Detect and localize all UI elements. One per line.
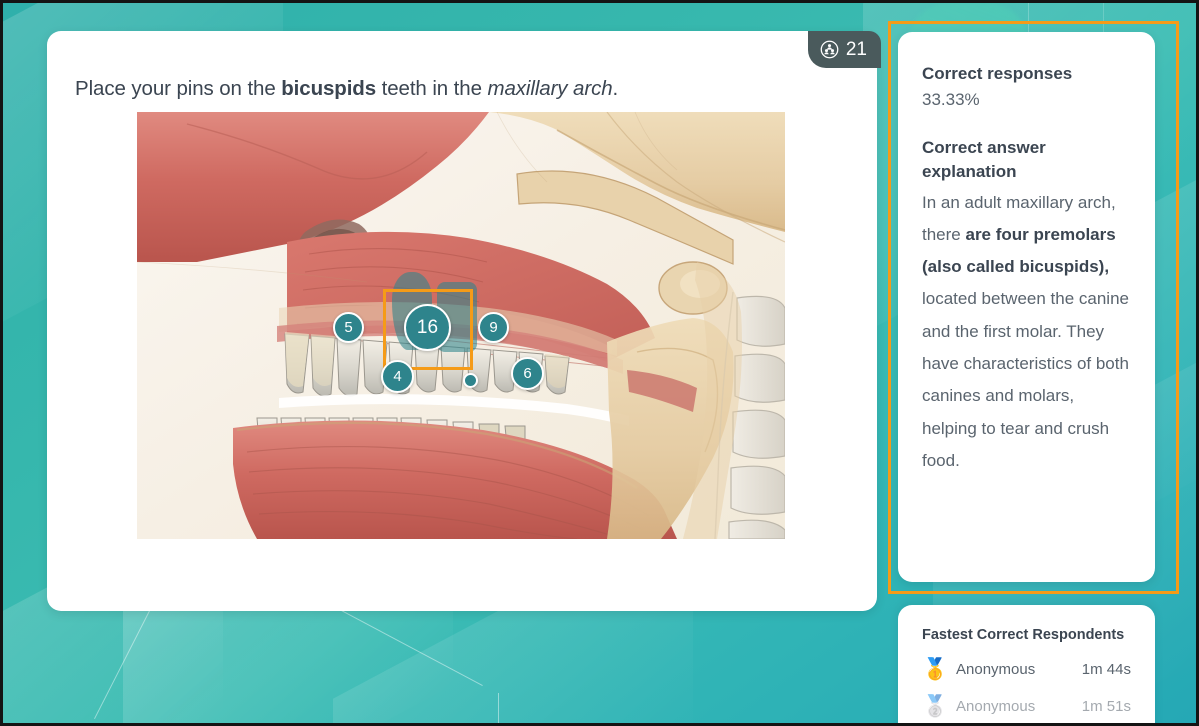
pin-marker[interactable]: 5 <box>333 312 364 343</box>
page-title: Place your pins on the bicuspids teeth i… <box>75 77 855 101</box>
pin-marker[interactable]: 9 <box>478 312 509 343</box>
quiz-review-screen: 21 Place your pins on the bicuspids teet… <box>0 0 1199 726</box>
pin-label: 9 <box>489 319 497 336</box>
respondent-time: 1m 51s <box>1082 698 1131 715</box>
answer-highlight-border <box>888 21 1179 594</box>
highlighted-answer-panel <box>888 21 1179 594</box>
first-place-medal-icon: 🥇 <box>922 659 956 680</box>
pin-marker[interactable]: 16 <box>404 304 451 351</box>
question-text-part3: . <box>613 77 619 100</box>
second-place-medal-icon: 🥈 <box>922 696 956 717</box>
question-text-bold: bicuspids <box>281 77 376 100</box>
question-card: 21 Place your pins on the bicuspids teet… <box>47 31 877 611</box>
pin-label: 16 <box>417 317 438 339</box>
question-text-part2: teeth in the <box>376 77 487 100</box>
participants-count: 21 <box>846 39 867 61</box>
respondent-time: 1m 44s <box>1082 661 1131 678</box>
fastest-respondents-card: Fastest Correct Respondents 🥇 Anonymous … <box>898 605 1155 726</box>
pin-label: 5 <box>344 319 352 336</box>
pin-label: 4 <box>393 368 401 385</box>
list-item: 🥇 Anonymous 1m 44s <box>922 659 1131 680</box>
question-text-part1: Place your pins on the <box>75 77 281 100</box>
pin-marker[interactable]: 6 <box>511 357 544 390</box>
pin-label: 6 <box>523 365 531 382</box>
question-text-italic: maxillary arch <box>487 77 612 100</box>
list-item: 🥈 Anonymous 1m 51s <box>922 696 1131 717</box>
people-group-icon <box>820 40 839 59</box>
fastest-respondents-heading: Fastest Correct Respondents <box>922 627 1131 643</box>
pin-marker[interactable]: 4 <box>381 360 414 393</box>
respondent-name: Anonymous <box>956 661 1082 678</box>
participants-badge: 21 <box>808 31 881 68</box>
pin-marker[interactable] <box>463 373 478 388</box>
respondent-name: Anonymous <box>956 698 1082 715</box>
